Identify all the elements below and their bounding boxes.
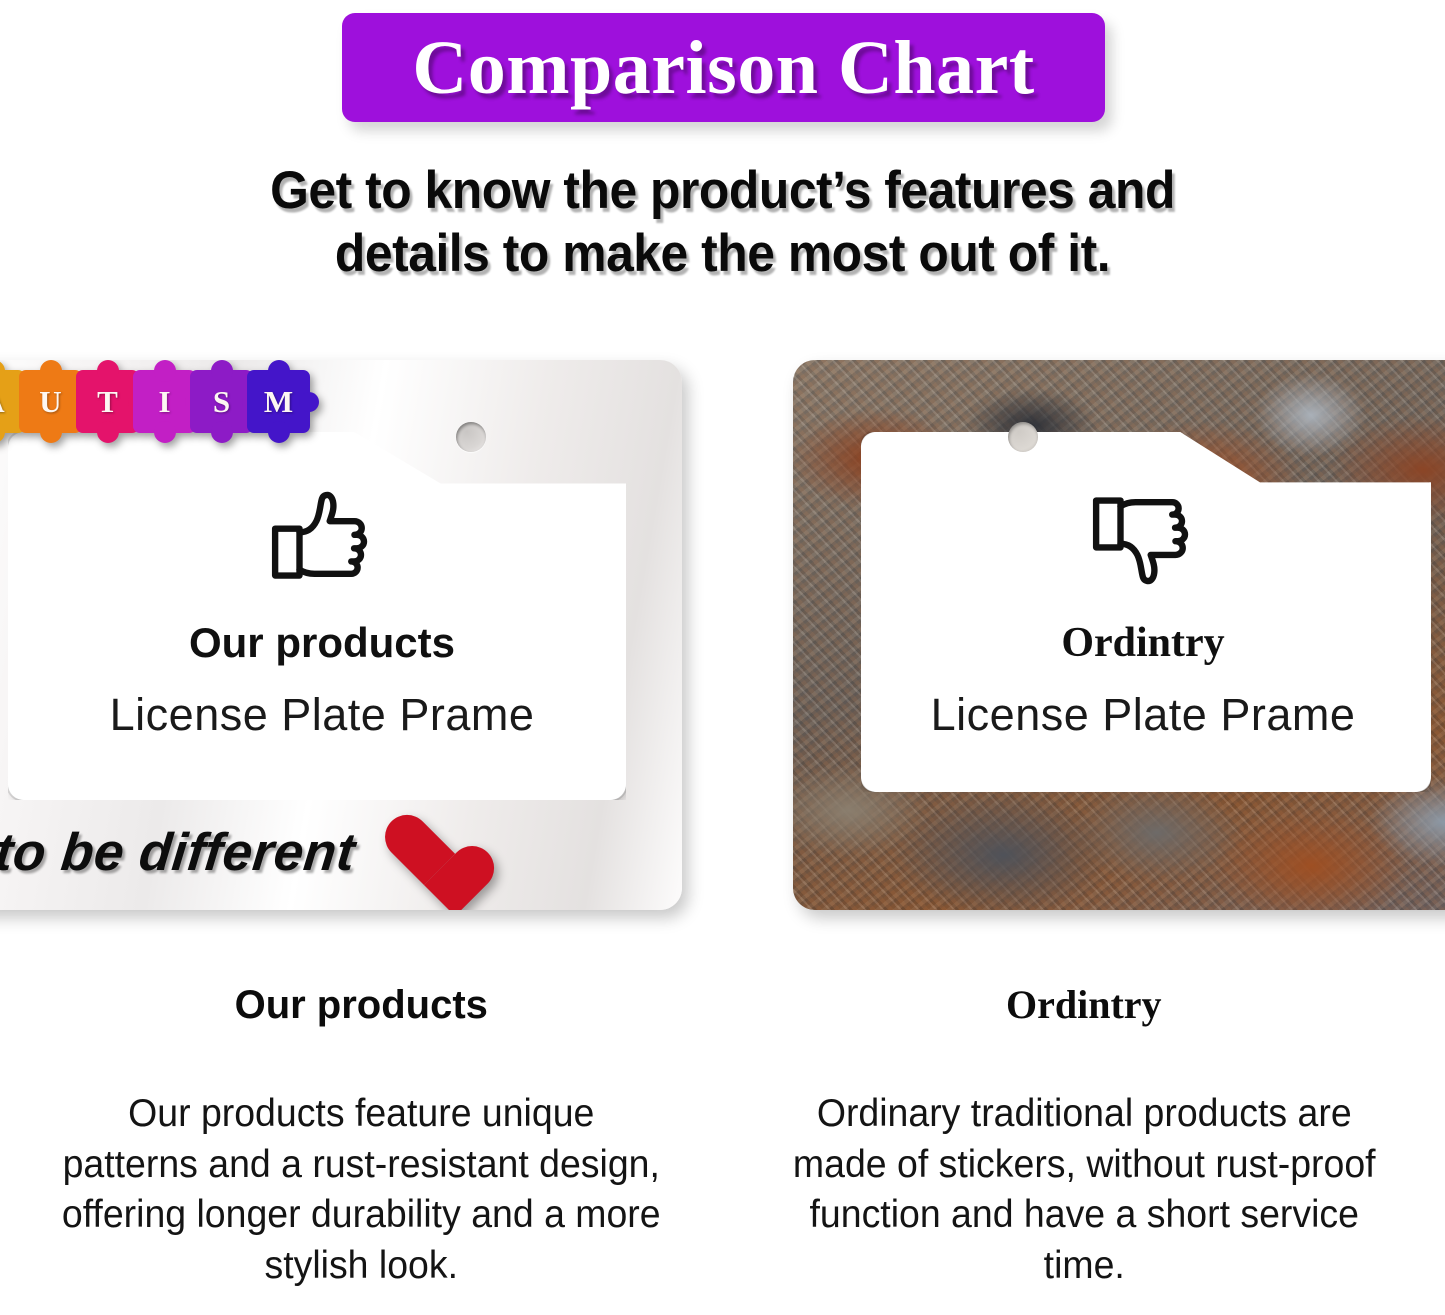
puzzle-nub-top [40,360,62,382]
puzzle-nub-bottom [211,421,233,443]
our-product-window-content: Our products License Plate Prame [0,478,682,737]
puzzle-piece-letter: U [39,386,61,417]
puzzle-piece-t: T [76,370,139,433]
ordinary-product-name: License Plate Prame [793,692,1445,737]
subtitle-line-2: details to make the most out of it. [43,223,1401,286]
subtitle: Get to know the product’s features and d… [43,160,1401,285]
puzzle-piece-letter: S [213,386,230,417]
puzzle-piece-letter: I [158,386,170,417]
screw-hole-icon [456,422,486,452]
column-body-ordinary: Ordinary traditional products are made o… [779,1089,1388,1292]
our-product-slogan: ay to be different [0,822,358,883]
puzzle-nub-top [211,360,233,382]
puzzle-nub-top [268,360,290,382]
puzzle-piece-s: S [190,370,253,433]
title-banner-background: Comparison Chart [342,13,1105,122]
page-title: Comparison Chart [412,30,1034,106]
our-product-plate-frame: AUTISM Our products License Plate Prame … [0,360,682,910]
puzzle-piece-u: U [19,370,82,433]
product-comparison-stage: AUTISM Our products License Plate Prame … [0,350,1445,930]
our-product-verdict: Our products [0,622,682,664]
heart-icon [381,813,467,891]
puzzle-nub-bottom [154,421,176,443]
puzzle-nub-top [154,360,176,382]
puzzle-nub-bottom [268,421,290,443]
subtitle-line-1: Get to know the product’s features and [43,160,1401,223]
puzzle-piece-letter: M [264,386,293,417]
comparison-columns: Our products Our products feature unique… [0,985,1445,1315]
ordinary-product-plate-frame: Ordintry License Plate Prame [793,360,1445,910]
our-product-slogan-band: ay to be different [0,800,682,904]
puzzle-piece-i: I [133,370,196,433]
column-heading-ours: Our products [44,985,679,1025]
column-body-ours: Our products feature unique patterns and… [57,1089,666,1292]
ordinary-product-verdict: Ordintry [793,622,1445,664]
screw-hole-icon [1008,422,1038,452]
comparison-column-ordinary: Ordintry Ordinary traditional products a… [723,985,1445,1315]
comparison-column-ours: Our products Our products feature unique… [0,985,723,1315]
puzzle-nub-bottom [40,421,62,443]
ordinary-product-window-content: Ordintry License Plate Prame [793,478,1445,737]
title-banner: Comparison Chart [342,13,1105,122]
autism-puzzle-decal: AUTISM [0,370,304,433]
puzzle-piece-m: M [247,370,310,433]
puzzle-piece-letter: A [0,386,5,417]
thumbs-down-icon [1083,478,1203,598]
puzzle-nub-top [97,360,119,382]
puzzle-nub-right [299,392,319,412]
our-product-name: License Plate Prame [0,692,682,737]
puzzle-piece-letter: T [97,386,118,417]
column-heading-ordinary: Ordintry [767,985,1402,1025]
puzzle-nub-bottom [97,421,119,443]
thumbs-up-icon [262,478,382,598]
